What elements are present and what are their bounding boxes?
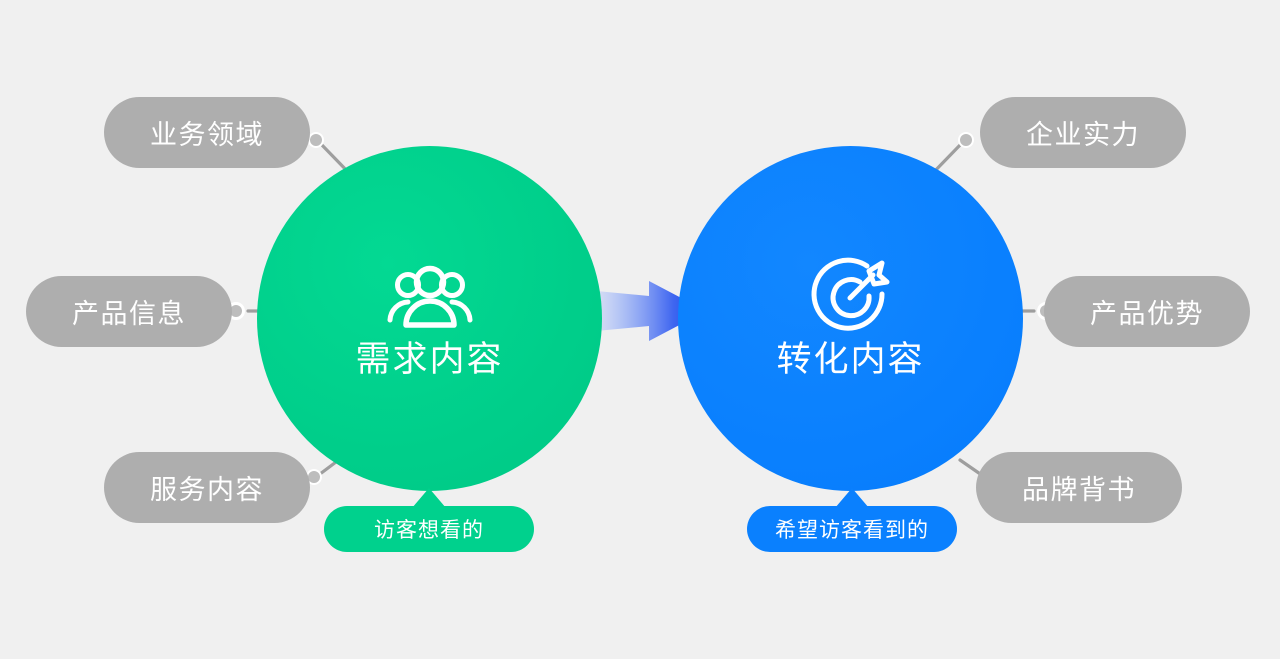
hub-conversion-content[interactable]: 转化内容	[678, 146, 1023, 491]
tag-pointer-icon	[412, 488, 446, 508]
pill-label: 产品优势	[1090, 292, 1204, 331]
pill-business-domain[interactable]: 业务领域	[104, 97, 310, 168]
pill-product-info[interactable]: 产品信息	[26, 276, 232, 347]
target-dart-icon	[805, 256, 897, 336]
pill-label: 产品信息	[72, 292, 186, 331]
tag-label: 希望访客看到的	[747, 506, 957, 552]
pill-label: 品牌背书	[1022, 468, 1136, 507]
hub-label: 转化内容	[776, 340, 924, 380]
pill-service-content[interactable]: 服务内容	[104, 452, 310, 523]
tag-label: 访客想看的	[324, 506, 534, 552]
pill-label: 企业实力	[1026, 113, 1140, 152]
tag-hope-visitor-sees[interactable]: 希望访客看到的	[747, 488, 957, 552]
pill-label: 业务领域	[150, 113, 264, 152]
hub-label: 需求内容	[355, 340, 503, 380]
hub-demand-content[interactable]: 需求内容	[257, 146, 602, 491]
pill-product-advantage[interactable]: 产品优势	[1044, 276, 1250, 347]
tag-pointer-icon	[835, 488, 869, 508]
users-group-icon	[384, 256, 476, 336]
diagram-canvas: 业务领域 产品信息 服务内容 企业实力 产品优势 品牌背书	[0, 0, 1280, 659]
pill-company-strength[interactable]: 企业实力	[980, 97, 1186, 168]
pill-label: 服务内容	[150, 468, 264, 507]
tag-visitor-wants[interactable]: 访客想看的	[324, 488, 534, 552]
pill-brand-endorsement[interactable]: 品牌背书	[976, 452, 1182, 523]
